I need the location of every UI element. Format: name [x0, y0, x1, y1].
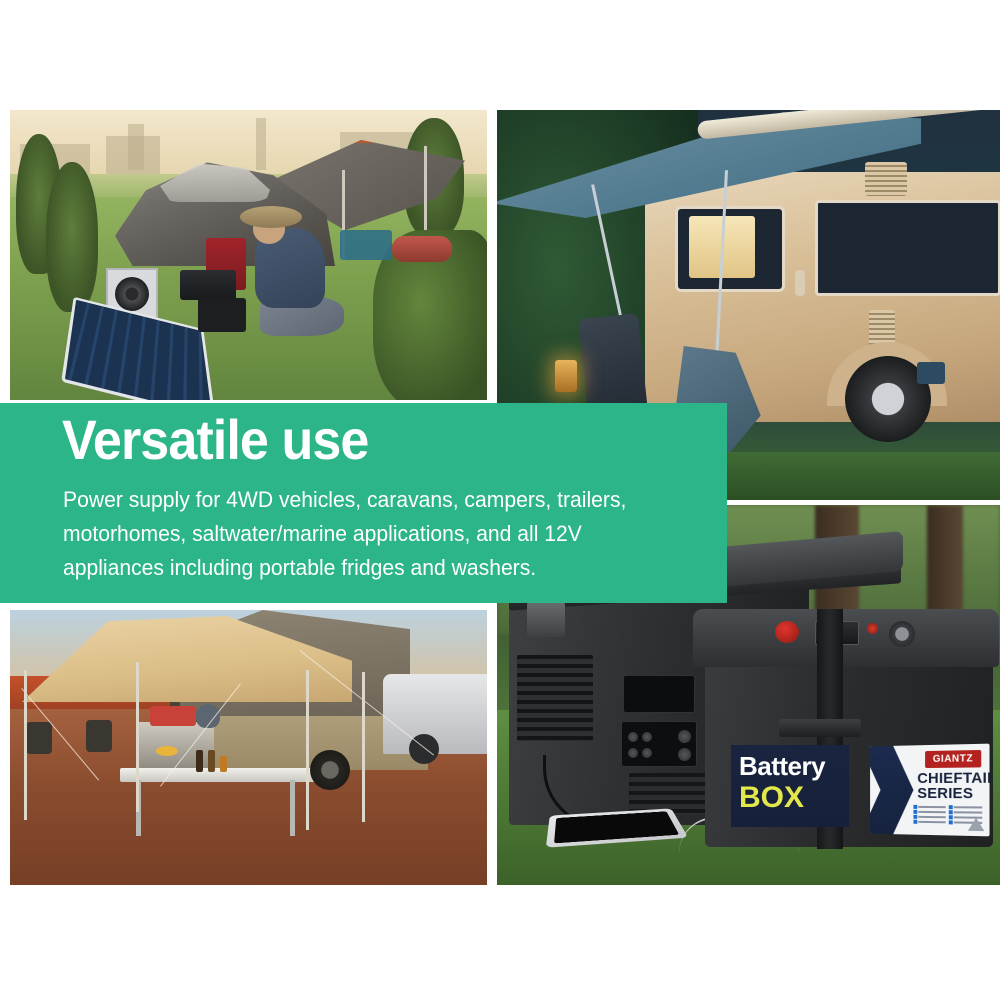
promo-body-line: appliances including portable fridges an…	[63, 551, 677, 585]
fridge-button[interactable]	[628, 748, 638, 758]
spec-card-line2: SERIES	[917, 786, 973, 802]
feature-item	[949, 805, 983, 809]
folding-table	[120, 768, 316, 782]
fridge-control-panel[interactable]	[621, 721, 697, 767]
feature-item	[913, 815, 945, 819]
fridge-button[interactable]	[642, 748, 652, 758]
portable-power-station	[198, 298, 246, 332]
duffel-bag	[392, 236, 452, 262]
feature-item	[913, 805, 945, 809]
caravan-door-handle	[795, 270, 805, 296]
outback-camper-trailer-photo	[10, 610, 487, 885]
caravan-window	[815, 200, 1000, 296]
awning-pole	[306, 670, 309, 830]
promo-body-line: motorhomes, saltwater/marine application…	[63, 517, 677, 551]
bowl	[156, 746, 178, 756]
battery-box-handle	[779, 719, 861, 737]
bottle	[196, 750, 203, 772]
feature-item	[913, 820, 945, 825]
camp-chair	[26, 722, 52, 754]
outdoor-light	[917, 362, 945, 384]
recycle-triangle-icon	[968, 818, 984, 832]
fridge-mode-button[interactable]	[678, 748, 691, 761]
table-leg	[290, 780, 295, 836]
awning-pole	[136, 662, 139, 812]
page-title: Versatile use	[62, 412, 368, 468]
background-tower	[256, 118, 266, 170]
fridge-button[interactable]	[642, 732, 652, 742]
battery-box-label-line1: Battery	[739, 753, 825, 779]
fridge-side-vent	[517, 655, 593, 741]
jar	[220, 756, 227, 772]
conifer-tree	[46, 162, 98, 312]
promo-body-line: Power supply for 4WD vehicles, caravans,…	[63, 483, 677, 517]
camp-stove	[150, 706, 196, 726]
battery-box-socket[interactable]	[889, 621, 915, 647]
battery-box-label: Battery BOX	[731, 745, 849, 827]
camp-lantern	[555, 360, 577, 392]
fridge-button[interactable]	[628, 732, 638, 742]
awning-pole	[362, 672, 365, 822]
battery-box-label-line2: BOX	[739, 783, 804, 813]
storage-crate	[340, 230, 392, 260]
promo-image-canvas: Battery BOX GIANTZ CHIEFTAIN SERIES Vers…	[0, 0, 1000, 1000]
chieftain-series-spec-card: GIANTZ CHIEFTAIN SERIES	[870, 744, 989, 837]
feature-item	[949, 810, 983, 814]
caravan-vent	[865, 162, 907, 196]
equipment-case	[180, 270, 236, 300]
fridge-latch-handle	[527, 601, 565, 637]
camping-tent-solar-panel-photo	[10, 110, 487, 400]
feature-item	[913, 810, 945, 814]
promo-body-copy: Power supply for 4WD vehicles, caravans,…	[63, 483, 677, 585]
sun-hat	[240, 206, 302, 228]
battery-box-indicator-light	[867, 623, 878, 634]
fridge-power-button[interactable]	[678, 730, 691, 743]
awning-pole	[24, 670, 27, 820]
battery-box-red-knob[interactable]	[775, 621, 799, 643]
tree-trunk	[927, 505, 963, 625]
chevron-graphic	[870, 745, 913, 834]
trailer-wheel	[310, 750, 350, 790]
camp-chair	[86, 720, 112, 752]
bottle	[208, 750, 215, 772]
fridge-spec-plate	[623, 675, 695, 713]
giantz-brand-logo: GIANTZ	[925, 750, 981, 768]
promo-text-panel: Versatile use Power supply for 4WD vehic…	[0, 403, 727, 603]
background-tower	[128, 124, 144, 170]
